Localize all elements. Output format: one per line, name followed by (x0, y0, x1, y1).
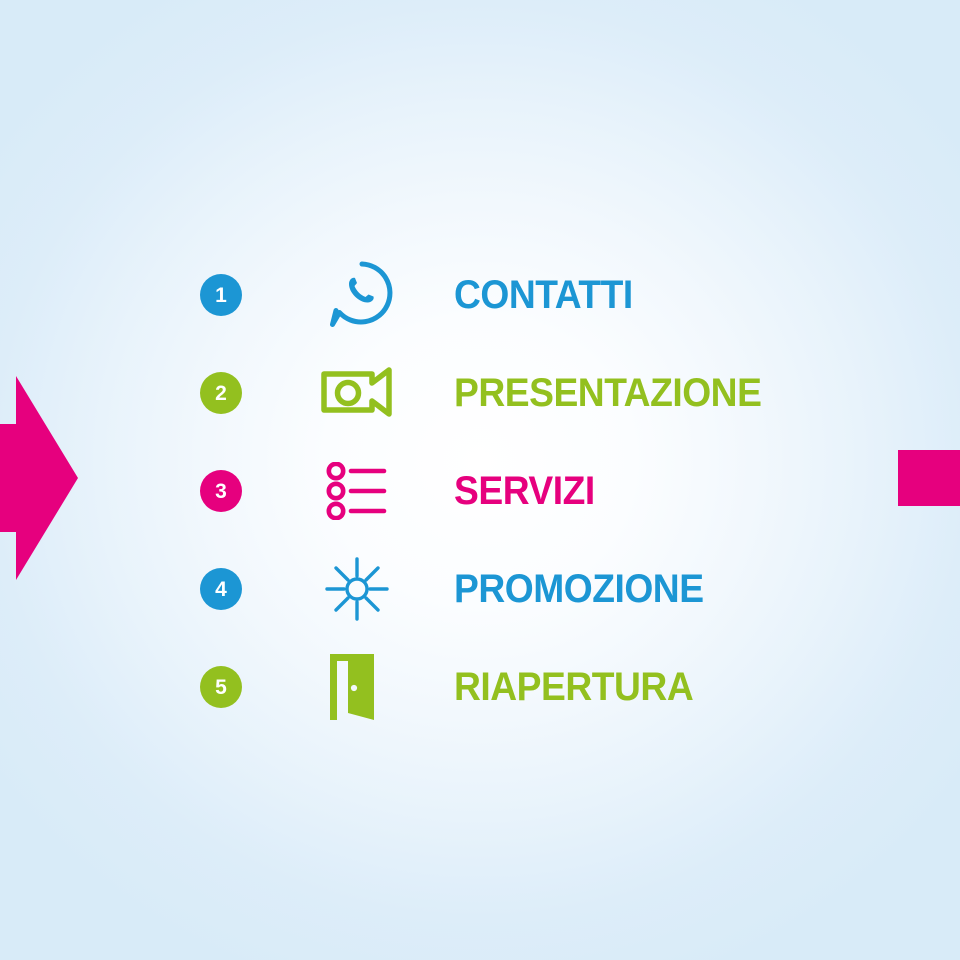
step-number: 2 (215, 383, 227, 404)
list-item[interactable]: 1 CONTATTI (200, 246, 820, 344)
whatsapp-phone-icon (314, 258, 400, 332)
step-number: 4 (215, 579, 227, 600)
step-number-badge: 3 (200, 470, 242, 512)
step-number-badge: 4 (200, 568, 242, 610)
step-number: 5 (215, 677, 227, 698)
list-item[interactable]: 2 PRESENTAZIONE (200, 344, 820, 442)
step-label: SERVIZI (454, 471, 794, 511)
list-item[interactable]: 4 PROMOZIONE (200, 540, 820, 638)
step-number-badge: 5 (200, 666, 242, 708)
list-item[interactable]: 5 RIAPERTURA (200, 638, 820, 736)
list-item[interactable]: 3 SERVIZI (200, 442, 820, 540)
video-camera-icon (314, 356, 400, 430)
right-magenta-arrow (898, 372, 960, 584)
step-label: PROMOZIONE (454, 569, 794, 609)
left-arrow-shape (0, 372, 78, 584)
bullet-list-icon (314, 454, 400, 528)
step-number: 3 (215, 481, 227, 502)
right-arrow-shape (898, 372, 960, 584)
poster-canvas: 1 CONTATTI 2 PRESENTAZIONE (0, 0, 960, 960)
sun-icon (314, 552, 400, 626)
left-magenta-arrow (0, 372, 78, 584)
step-number-badge: 1 (200, 274, 242, 316)
step-label: CONTATTI (454, 275, 794, 315)
step-label: RIAPERTURA (454, 667, 794, 707)
steps-list: 1 CONTATTI 2 PRESENTAZIONE (200, 246, 820, 736)
step-label: PRESENTAZIONE (454, 373, 794, 413)
step-number: 1 (215, 285, 227, 306)
open-door-icon (314, 650, 400, 724)
step-number-badge: 2 (200, 372, 242, 414)
